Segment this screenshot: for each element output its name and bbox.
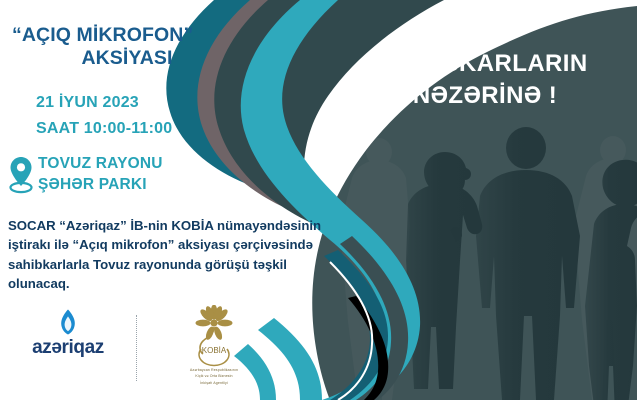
location-text: TOVUZ RAYONU ŞƏHƏR PARKI <box>38 153 163 196</box>
page-title: “AÇIQ MİKROFON” AKSİYASI <box>10 24 310 70</box>
kobia-fineprint-line-3: İnkişafı Agentliyi <box>154 381 274 386</box>
event-time: SAAT 10:00-11:00 <box>36 116 172 142</box>
map-pin-icon <box>8 155 34 195</box>
kobia-flower-icon: KOBİA <box>181 305 247 367</box>
logo-strip: azəriqaz <box>8 305 338 397</box>
kobia-logo: KOBİA Azərbaycan Respublikasının Kiçik v… <box>154 305 274 386</box>
event-poster: “AÇIQ MİKROFON” AKSİYASI 21 İYUN 2023 SA… <box>0 0 637 400</box>
schedule-block: 21 İYUN 2023 SAAT 10:00-11:00 <box>36 90 172 142</box>
body-paragraph: SOCAR “Azəriqaz” İB-nin KOBİA nümayəndəs… <box>8 216 330 293</box>
headline: SAHİBKARLARIN NƏZƏRİNƏ ! <box>349 48 621 111</box>
azeriqaz-logo: azəriqaz <box>20 309 116 359</box>
headline-line-1: SAHİBKARLARIN <box>349 48 621 80</box>
kobia-fineprint-line-1: Azərbaycan Respublikasının <box>154 368 274 373</box>
headline-line-2: NƏZƏRİNƏ ! <box>349 80 621 112</box>
location-line-2: ŞƏHƏR PARKI <box>38 174 163 195</box>
flame-icon <box>57 309 79 335</box>
logo-divider <box>136 315 138 381</box>
kobia-fineprint-line-2: Kiçik və Orta Biznesin <box>154 374 274 379</box>
event-date: 21 İYUN 2023 <box>36 90 172 116</box>
title-line-2: AKSİYASI <box>10 47 310 70</box>
left-content-column: “AÇIQ MİKROFON” AKSİYASI 21 İYUN 2023 SA… <box>0 0 340 400</box>
location-block: TOVUZ RAYONU ŞƏHƏR PARKI <box>8 153 163 196</box>
location-line-1: TOVUZ RAYONU <box>38 153 163 174</box>
title-line-1: “AÇIQ MİKROFON” <box>10 24 310 47</box>
azeriqaz-wordmark: azəriqaz <box>20 337 116 359</box>
svg-text:KOBİA: KOBİA <box>202 346 227 355</box>
